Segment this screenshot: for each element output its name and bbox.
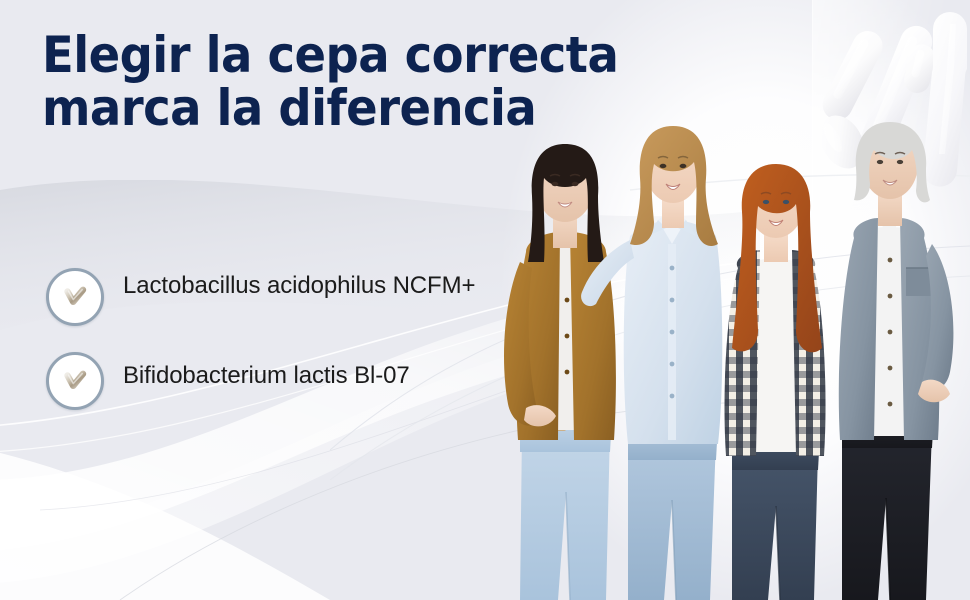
panel-edge-highlight xyxy=(812,0,970,210)
benefit-list: Lactobacillus acidophilus NCFM+ Bifidoba… xyxy=(46,266,476,410)
list-item: Bifidobacterium lactis Bl-07 xyxy=(46,350,476,410)
list-item-label: Lactobacillus acidophilus NCFM+ xyxy=(123,266,475,301)
probiotic-bacteria-icon xyxy=(800,0,970,200)
check-mark-icon xyxy=(46,352,104,410)
headline: Elegir la cepa correcta marca la diferen… xyxy=(42,29,693,135)
check-mark-icon xyxy=(46,268,104,326)
list-item-label: Bifidobacterium lactis Bl-07 xyxy=(123,350,410,391)
list-item: Lactobacillus acidophilus NCFM+ xyxy=(46,266,476,326)
promo-banner: Elegir la cepa correcta marca la diferen… xyxy=(0,0,970,600)
person-senior-woman-gray-shirt xyxy=(839,122,954,600)
person-young-woman-dark-hair xyxy=(504,144,616,600)
person-teen-redhead-plaid xyxy=(725,164,826,600)
person-woman-blonde-blue-shirt xyxy=(581,126,722,600)
